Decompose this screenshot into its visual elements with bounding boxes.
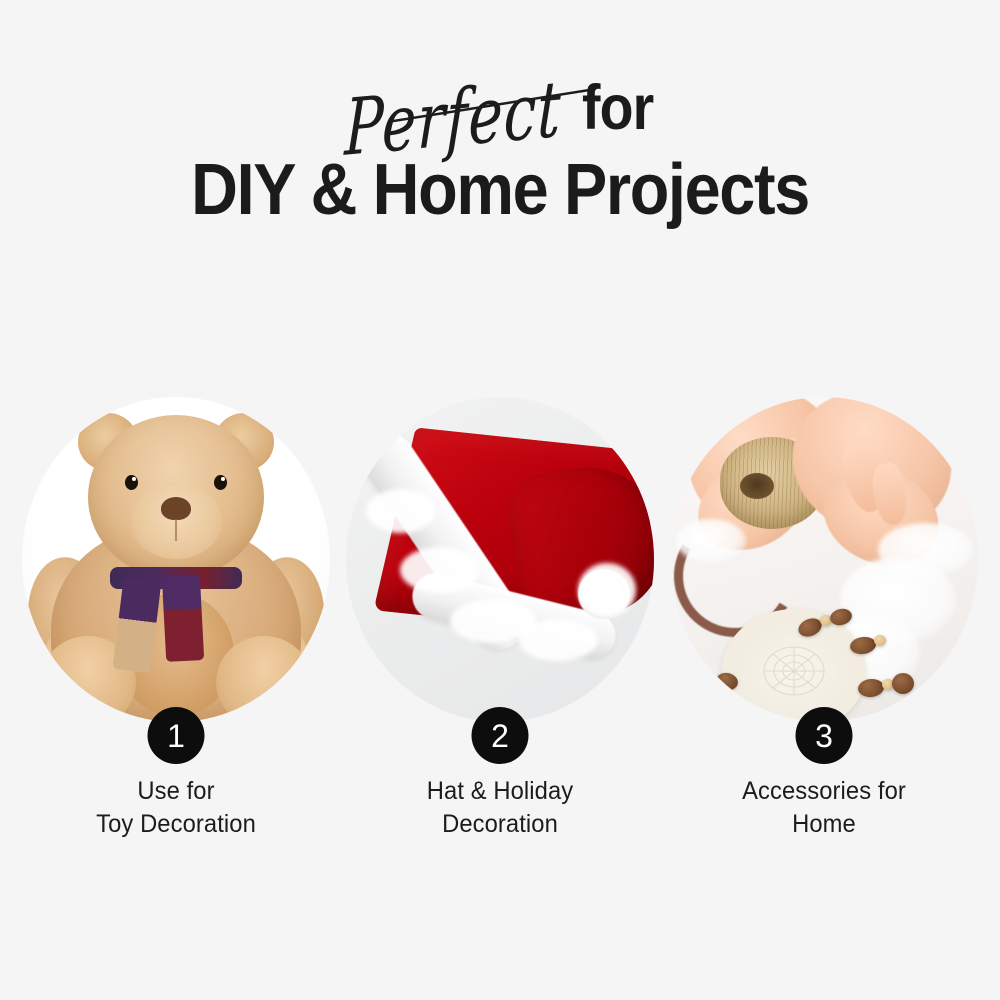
feature-caption-3: Accessories for Home: [678, 775, 971, 842]
teddy-bear-photo: [22, 397, 330, 722]
step-badge-3: 3: [796, 707, 853, 764]
feather: [676, 519, 746, 563]
caption-line-2: Decoration: [354, 808, 647, 841]
heading-line-2: DIY & Home Projects: [50, 154, 950, 226]
feature-card-2[interactable]: 2 Hat & Holiday Decoration: [346, 397, 654, 722]
caption-line-1: Hat & Holiday: [354, 775, 647, 808]
step-badge-2: 2: [472, 707, 529, 764]
caption-line-1: Use for: [30, 775, 323, 808]
feature-card-3[interactable]: 3 Accessories for Home: [670, 397, 978, 722]
fur-fuzz: [400, 547, 480, 593]
wooden-bead: [892, 673, 914, 694]
fur-fuzz: [366, 489, 436, 533]
santa-hat-illustration: [346, 397, 654, 722]
feature-card-1[interactable]: 1 Use for Toy Decoration: [22, 397, 330, 722]
wooden-bead: [874, 635, 886, 646]
page-title: Perfectfor DIY & Home Projects: [0, 72, 1000, 226]
feature-cards: 1 Use for Toy Decoration: [22, 397, 978, 722]
promo-banner: Perfectfor DIY & Home Projects: [0, 0, 1000, 1000]
step-badge-1: 1: [148, 707, 205, 764]
fur-fuzz: [518, 619, 598, 661]
bear-mouth: [175, 519, 177, 541]
heading-bold-word: for: [582, 72, 653, 144]
feature-caption-2: Hat & Holiday Decoration: [354, 775, 647, 842]
heading-line-1: Perfectfor: [0, 72, 1000, 158]
bear-nose: [161, 497, 191, 520]
bear-eye-left: [125, 475, 138, 490]
teddy-bear-illustration: [22, 397, 330, 722]
caption-line-1: Accessories for: [678, 775, 971, 808]
caption-line-2: Home: [678, 808, 971, 841]
dreamcatcher-illustration: [670, 397, 978, 722]
bear-eye-right: [214, 475, 227, 490]
dreamcatcher-craft-photo: [670, 397, 978, 722]
feature-caption-1: Use for Toy Decoration: [30, 775, 323, 842]
santa-hat-photo: [346, 397, 654, 722]
caption-line-2: Toy Decoration: [30, 808, 323, 841]
bear-scarf-tail-right: [162, 574, 204, 662]
fur-fuzz: [578, 563, 636, 617]
dreamcatcher-ring: [722, 609, 866, 722]
dreamcatcher-web: [753, 638, 835, 704]
twine-spool-hole: [740, 473, 774, 499]
bear-foot-right: [216, 636, 312, 722]
